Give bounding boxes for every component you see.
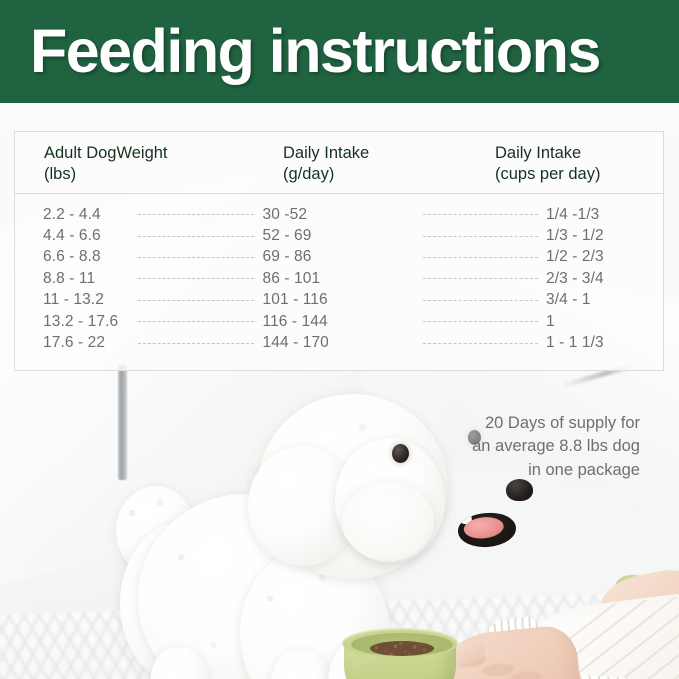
cell-grams: 144 - 170	[262, 334, 415, 352]
leader-line	[423, 257, 539, 258]
cell-weight: 6.6 - 8.8	[15, 248, 130, 266]
leader-line	[138, 236, 254, 237]
supply-note: 20 Days of supply for an average 8.8 lbs…	[390, 412, 640, 482]
cell-weight: 2.2 - 4.4	[15, 206, 130, 224]
supply-note-line2: an average 8.8 lbs dog	[390, 435, 640, 458]
leader-line	[138, 278, 254, 279]
column-header-grams-line2: (g/day)	[283, 164, 495, 185]
table-row: 6.6 - 8.869 - 861/2 - 2/3	[15, 247, 663, 268]
feeding-table: Adult DogWeight (lbs) Daily Intake (g/da…	[14, 131, 664, 371]
cell-grams: 86 - 101	[262, 270, 415, 288]
cell-weight: 8.8 - 11	[15, 270, 130, 288]
leader-line	[138, 321, 254, 322]
cell-grams: 52 - 69	[262, 227, 415, 245]
dog-muzzle	[342, 481, 434, 561]
leader-line	[423, 300, 539, 301]
cell-cups: 3/4 - 1	[546, 291, 663, 309]
cell-cups: 1	[546, 313, 663, 331]
leader-line	[138, 214, 254, 215]
column-header-weight-line1: Adult DogWeight	[44, 143, 283, 164]
header-banner: Feeding instructions	[0, 0, 679, 103]
dog-nose	[506, 479, 533, 501]
column-header-cups-line1: Daily Intake	[495, 143, 663, 164]
cell-cups: 2/3 - 3/4	[546, 270, 663, 288]
cell-weight: 11 - 13.2	[15, 291, 130, 309]
leader-line	[138, 300, 254, 301]
table-row: 8.8 - 1186 - 1012/3 - 3/4	[15, 268, 663, 289]
page-title: Feeding instructions	[30, 21, 600, 82]
column-header-weight: Adult DogWeight (lbs)	[15, 143, 283, 193]
table-header-row: Adult DogWeight (lbs) Daily Intake (g/da…	[15, 132, 663, 194]
cell-grams: 101 - 116	[262, 291, 415, 309]
column-header-cups-line2: (cups per day)	[495, 164, 663, 185]
supply-note-line1: 20 Days of supply for	[390, 412, 640, 435]
kibble	[370, 641, 434, 656]
cell-grams: 116 - 144	[262, 313, 415, 331]
cell-grams: 69 - 86	[262, 248, 415, 266]
column-header-grams-line1: Daily Intake	[283, 143, 495, 164]
leader-line	[423, 236, 539, 237]
leader-line	[138, 343, 254, 344]
cell-weight: 17.6 - 22	[15, 334, 130, 352]
supply-note-line3: in one package	[390, 459, 640, 482]
leader-line	[423, 278, 539, 279]
leader-line	[423, 214, 539, 215]
table-row: 13.2 - 17.6116 - 1441	[15, 311, 663, 332]
table-body: 2.2 - 4.430 -521/4 -1/34.4 - 6.652 - 691…	[15, 194, 663, 354]
column-header-cups: Daily Intake (cups per day)	[495, 143, 663, 193]
leader-line	[423, 321, 539, 322]
table-row: 4.4 - 6.652 - 691/3 - 1/2	[15, 225, 663, 246]
food-bowl	[344, 628, 474, 679]
table-row: 2.2 - 4.430 -521/4 -1/3	[15, 204, 663, 225]
leader-line	[138, 257, 254, 258]
cell-grams: 30 -52	[262, 206, 415, 224]
cell-cups: 1 - 1 1/3	[546, 334, 663, 352]
dog-mouth	[456, 510, 517, 550]
cell-cups: 1/2 - 2/3	[546, 248, 663, 266]
column-header-weight-line2: (lbs)	[44, 164, 283, 185]
column-header-grams: Daily Intake (g/day)	[283, 143, 495, 193]
leader-line	[423, 343, 539, 344]
cell-cups: 1/3 - 1/2	[546, 227, 663, 245]
table-row: 17.6 - 22144 - 1701 - 1 1/3	[15, 332, 663, 353]
feeding-instructions-page: Feeding instructions Adult DogWeight (lb…	[0, 0, 679, 679]
cell-weight: 13.2 - 17.6	[15, 313, 130, 331]
table-row: 11 - 13.2101 - 1163/4 - 1	[15, 290, 663, 311]
cell-cups: 1/4 -1/3	[546, 206, 663, 224]
cell-weight: 4.4 - 6.6	[15, 227, 130, 245]
